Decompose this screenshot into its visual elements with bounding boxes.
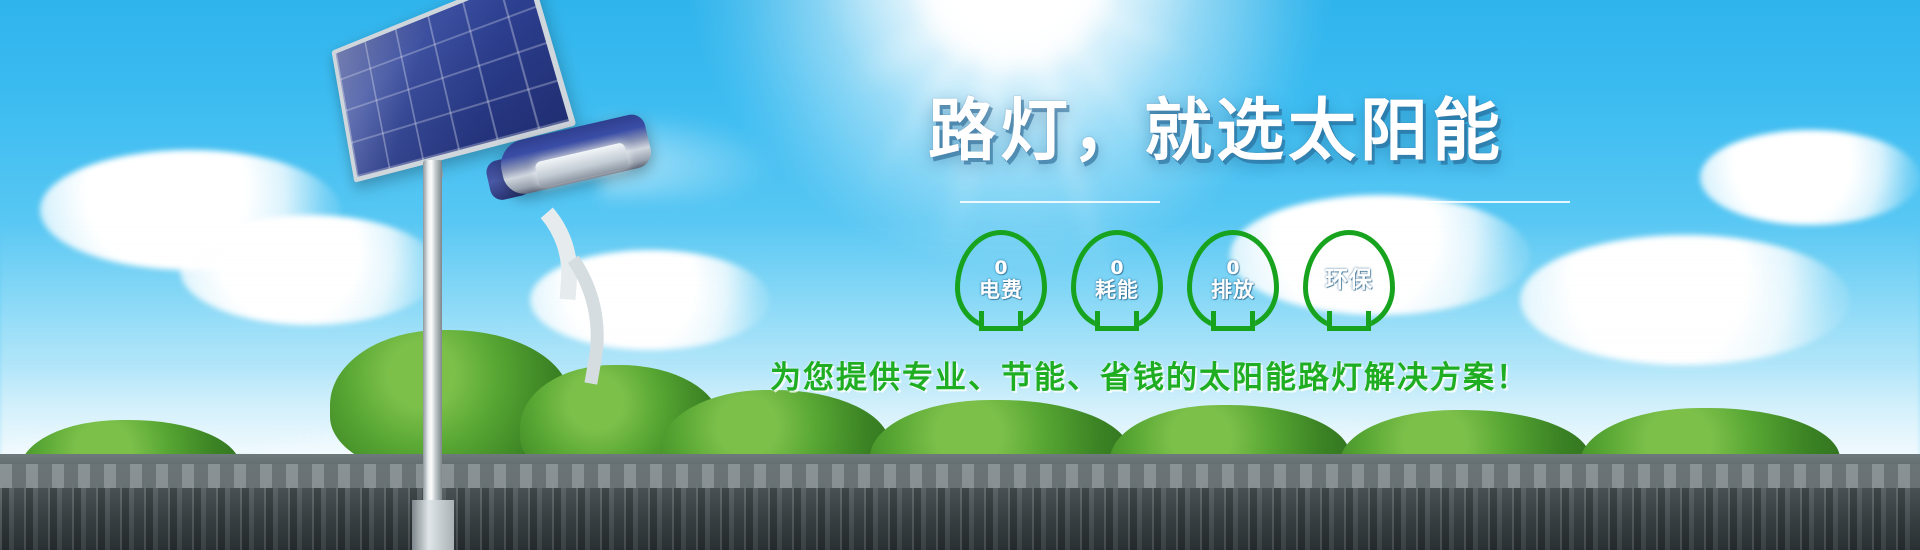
banner-headline: 路灯，就选太阳能 <box>928 96 1504 168</box>
feature-badge-paifang: 0 排放 <box>1187 230 1279 330</box>
badge-prefix: 0 <box>1226 259 1239 278</box>
bulb-base-icon <box>1211 326 1255 331</box>
bulb-base-icon <box>979 326 1023 331</box>
feature-badge-huanbao: 环保 <box>1303 230 1395 330</box>
feature-badge-haoneng: 0 耗能 <box>1071 230 1163 330</box>
badge-prefix: 0 <box>1110 259 1123 278</box>
feature-badge-list: 0 电费 0 耗能 0 排放 <box>955 230 1395 330</box>
badge-prefix: 0 <box>994 259 1007 278</box>
badge-label: 电费 <box>979 278 1023 302</box>
bulb-base-icon <box>1095 326 1139 331</box>
badge-label: 排放 <box>1211 278 1255 302</box>
badge-label: 环保 <box>1325 267 1373 294</box>
divider-left <box>960 201 1160 203</box>
banner-copy: 路灯，就选太阳能 0 电费 0 耗能 <box>0 0 1920 550</box>
divider-right <box>1370 201 1570 203</box>
feature-badge-dianfei: 0 电费 <box>955 230 1047 330</box>
bulb-base-icon <box>1327 326 1371 331</box>
badge-label: 耗能 <box>1095 278 1139 302</box>
hero-banner: 路灯，就选太阳能 0 电费 0 耗能 <box>0 0 1920 550</box>
banner-subline: 为您提供专业、节能、省钱的太阳能路灯解决方案！ <box>770 360 1529 396</box>
